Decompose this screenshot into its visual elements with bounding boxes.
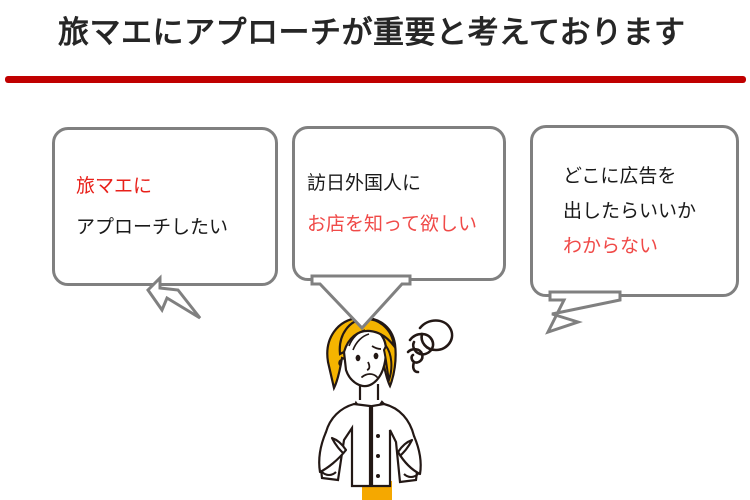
page-title: 旅マエにアプローチが重要と考えております <box>58 14 738 53</box>
bubble-line: わからない <box>563 237 736 256</box>
bubble-line: 訪日外国人に <box>307 174 503 193</box>
bubble-line: お店を知って欲しい <box>307 215 503 234</box>
puzzled-woman-illustration <box>296 300 486 500</box>
eye-left <box>356 355 361 361</box>
title-underline-rule <box>5 76 746 83</box>
button-dot <box>376 454 380 458</box>
button-dot <box>376 434 380 438</box>
character-body-group <box>319 318 421 500</box>
bubble-line: どこに広告を <box>563 167 736 186</box>
bubble-line: アプローチしたい <box>76 218 275 237</box>
button-dot <box>376 474 380 478</box>
speech-bubble-inbound[interactable]: 訪日外国人に お店を知って欲しい <box>292 126 506 281</box>
bubble-line: 旅マエに <box>76 177 275 196</box>
speech-bubble-approach-tail <box>52 278 172 338</box>
speech-bubble-where-to-advertise-tail <box>530 292 690 352</box>
speech-bubble-approach-text: 旅マエに アプローチしたい <box>55 130 275 283</box>
speech-bubble-where-to-advertise[interactable]: どこに広告を 出したらいいか わからない <box>530 125 739 297</box>
slide-canvas: 旅マエにアプローチが重要と考えております 旅マエに アプローチしたい 訪日外国人… <box>0 0 750 500</box>
speech-bubble-inbound-text: 訪日外国人に お店を知って欲しい <box>295 129 503 278</box>
eye-right <box>374 353 379 359</box>
confusion-swirl-icon <box>408 321 452 373</box>
speech-bubble-approach[interactable]: 旅マエに アプローチしたい <box>52 127 278 286</box>
speech-bubble-where-to-advertise-text: どこに広告を 出したらいいか わからない <box>533 128 736 294</box>
bubble-line: 出したらいいか <box>563 202 736 221</box>
